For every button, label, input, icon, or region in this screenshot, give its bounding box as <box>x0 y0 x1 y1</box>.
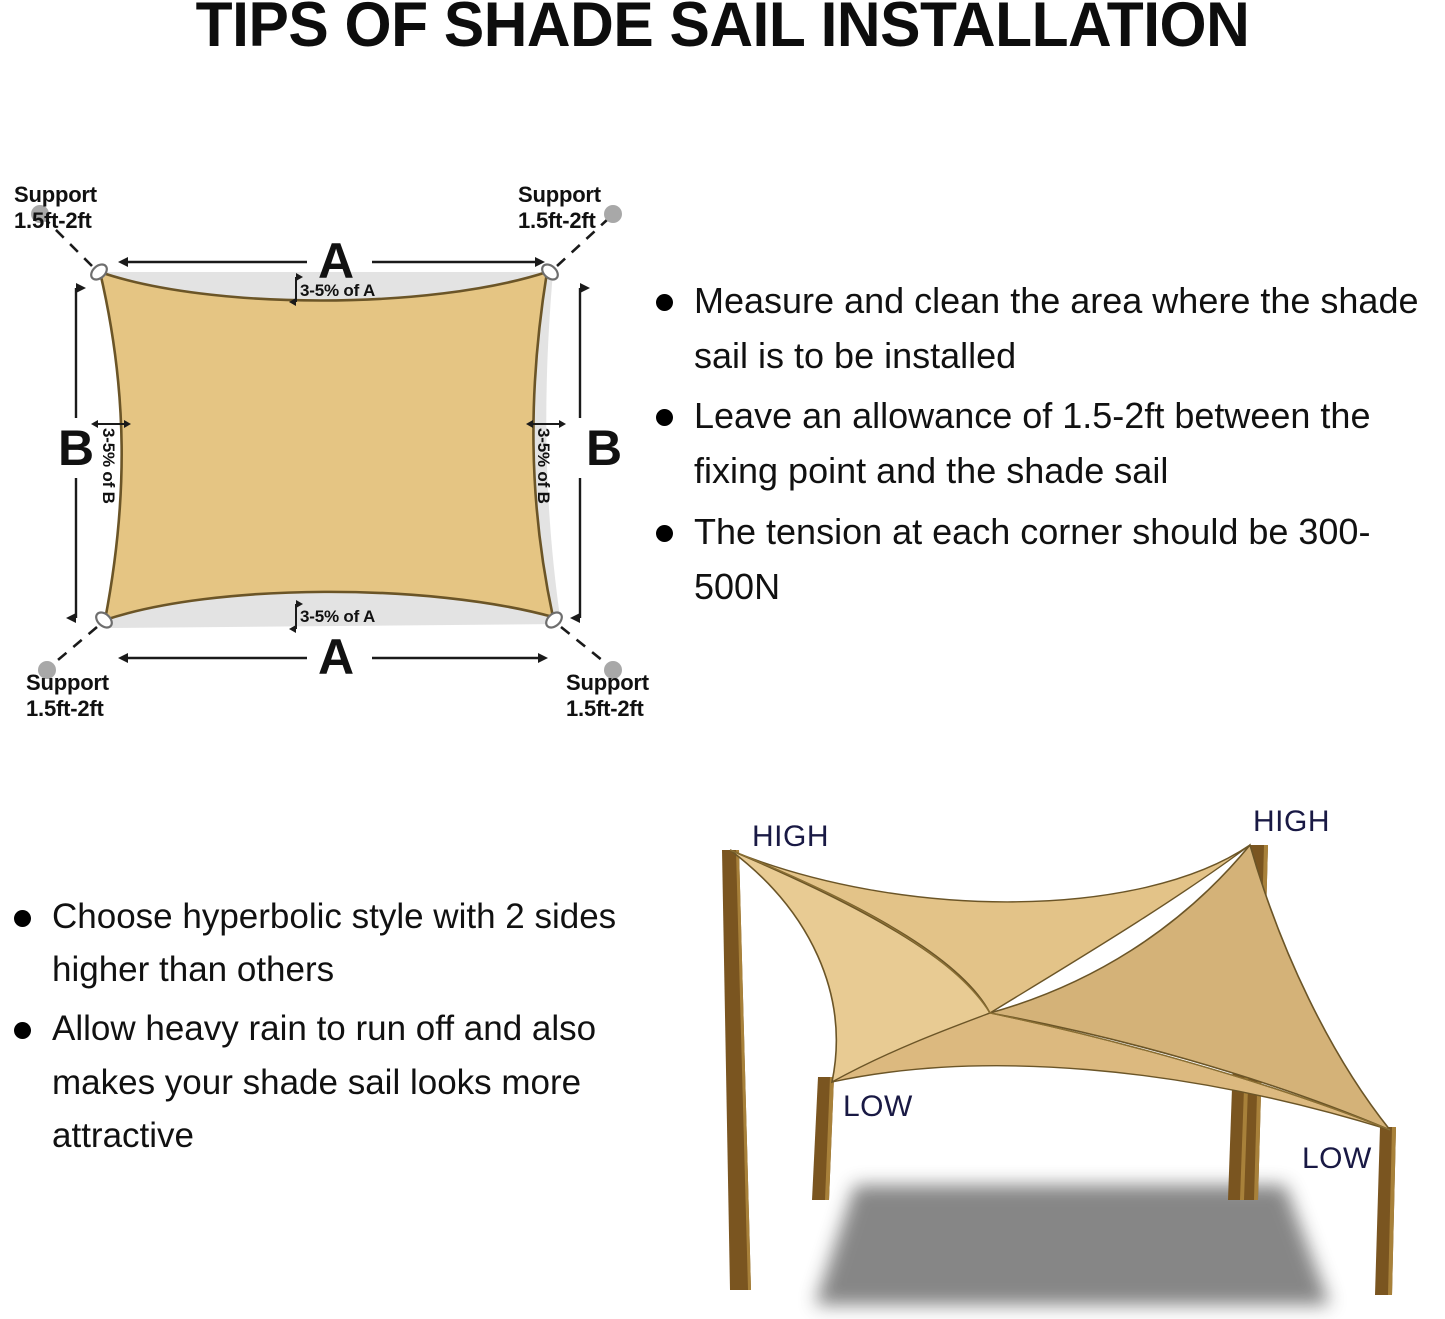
dimension-letter-bottom-a: A <box>318 632 353 682</box>
post-right-high-highlight <box>1254 845 1268 1200</box>
curve-depth-label-left: 3-5% of B <box>98 428 118 504</box>
post-left-high <box>722 850 751 1290</box>
list-item: The tension at each corner should be 300… <box>650 505 1445 614</box>
support-label-line2: 1.5ft-2ft <box>14 208 92 233</box>
sail-hem-highlight <box>100 272 561 628</box>
curve-depth-label-top: 3-5% of A <box>300 281 375 301</box>
support-line-bottom-right <box>561 627 608 665</box>
support-line-bottom-left <box>52 627 97 665</box>
label-high-left: HIGH <box>752 820 829 854</box>
corner-ring-top-right <box>539 262 560 283</box>
support-label-bottom-right: Support 1.5ft-2ft <box>566 670 649 722</box>
post-right-high <box>1240 845 1268 1200</box>
hyperbolic-tips-list: Choose hyperbolic style with 2 sides hig… <box>8 890 628 1168</box>
curve-depth-label-bottom: 3-5% of A <box>300 607 375 627</box>
list-item: Allow heavy rain to run off and also mak… <box>8 1002 628 1162</box>
post-right-low-highlight <box>1388 1127 1396 1295</box>
post-mid-right-highlight <box>1240 1060 1249 1200</box>
label-low-left: LOW <box>843 1090 913 1124</box>
label-low-right: LOW <box>1302 1142 1372 1176</box>
infographic-page: TIPS OF SHADE SAIL INSTALLATION <box>0 0 1445 1319</box>
post-left-high-highlight <box>736 850 751 1290</box>
corner-ring-bottom-right <box>543 610 564 631</box>
curve-depth-label-right: 3-5% of B <box>533 428 553 504</box>
sail-fold-line-left <box>730 850 990 1013</box>
label-high-right: HIGH <box>1253 805 1330 839</box>
post-left-low-highlight <box>825 1077 834 1200</box>
corner-ring-bottom-left <box>93 610 114 631</box>
support-label-top-left: Support 1.5ft-2ft <box>14 182 97 234</box>
support-label-line1: Support <box>26 670 109 695</box>
list-item: Leave an allowance of 1.5-2ft between th… <box>650 389 1445 498</box>
ground-shadow <box>815 1185 1330 1305</box>
post-right-low <box>1375 1127 1396 1295</box>
support-label-line1: Support <box>566 670 649 695</box>
shade-sail-fabric <box>100 272 553 620</box>
corner-ring-top-left <box>88 262 109 283</box>
support-label-line2: 1.5ft-2ft <box>26 696 104 721</box>
sail-saddle-upper <box>730 845 1250 1013</box>
support-label-top-right: Support 1.5ft-2ft <box>518 182 601 234</box>
sail-saddle-lower <box>832 1013 1390 1130</box>
support-dot-top-right <box>604 205 622 223</box>
dimension-letter-top-a: A <box>318 236 353 286</box>
list-item: Measure and clean the area where the sha… <box>650 274 1445 383</box>
sail-panel-right <box>990 845 1390 1130</box>
dimension-letter-left-b: B <box>58 423 93 473</box>
post-mid-right <box>1228 1060 1249 1200</box>
list-item: Choose hyperbolic style with 2 sides hig… <box>8 890 628 996</box>
sail-panel-left <box>730 850 990 1082</box>
sail-fold-line-right <box>990 1013 1390 1130</box>
installation-tips-list: Measure and clean the area where the sha… <box>650 274 1445 620</box>
support-label-line1: Support <box>14 182 97 207</box>
dimension-letter-right-b: B <box>586 423 621 473</box>
support-label-line2: 1.5ft-2ft <box>566 696 644 721</box>
support-label-line1: Support <box>518 182 601 207</box>
support-label-bottom-left: Support 1.5ft-2ft <box>26 670 109 722</box>
page-title: TIPS OF SHADE SAIL INSTALLATION <box>29 0 1416 57</box>
post-left-low <box>812 1077 834 1200</box>
support-label-line2: 1.5ft-2ft <box>518 208 596 233</box>
